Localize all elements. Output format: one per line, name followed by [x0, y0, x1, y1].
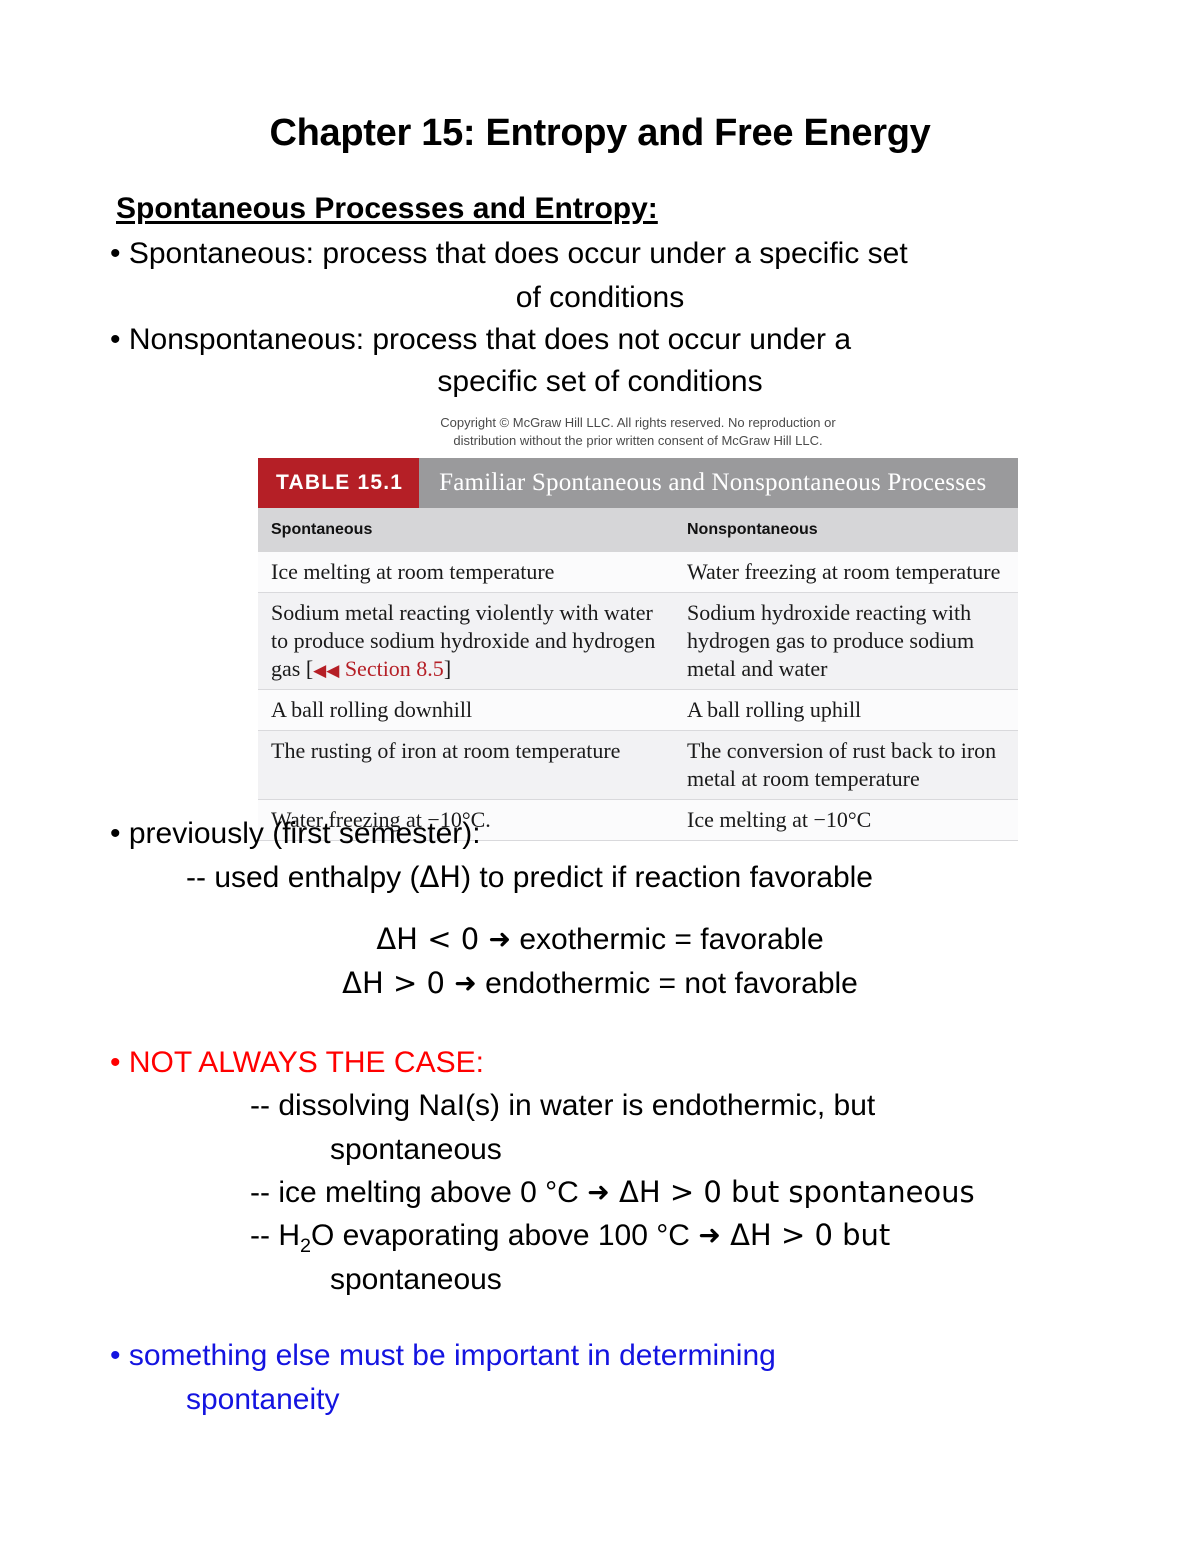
bullet-previously: • previously (first semester):	[110, 818, 481, 850]
arrow-right-icon: ➜	[488, 925, 511, 954]
sub-bullet-ice-melting: -- ice melting above 0 °C ➜ ΔH > 0 but s…	[250, 1177, 975, 1209]
bullet-dot: •	[110, 323, 129, 356]
table-caption: Familiar Spontaneous and Nonspontaneous …	[419, 458, 1018, 508]
ice-melting-text-a: -- ice melting above 0 °C	[250, 1176, 587, 1209]
spontaneous-emphasis: does	[494, 237, 559, 270]
sub-bullet-enthalpy: -- used enthalpy (ΔH) to predict if reac…	[186, 862, 873, 894]
spontaneous-line2-text: of conditions	[516, 281, 684, 314]
section-reference-link[interactable]: Section 8.5	[339, 656, 444, 681]
h2o-text-a: -- H	[250, 1219, 300, 1252]
column-header-spontaneous: Spontaneous	[258, 521, 674, 539]
conclusion-line-1: • something else must be important in de…	[110, 1340, 776, 1372]
h2o-text-c: ΔH > 0 but	[721, 1218, 890, 1252]
column-header-nonspontaneous: Nonspontaneous	[674, 521, 1018, 539]
cell-spontaneous: Ice melting at room temperature	[258, 552, 674, 592]
equation-exothermic-lhs: ΔH < 0	[376, 922, 488, 956]
cell-spontaneous: The rusting of iron at room temperature	[258, 731, 674, 799]
delta-h-symbol: ΔH	[419, 860, 461, 894]
bullet-not-always-the-case: • NOT ALWAYS THE CASE:	[110, 1047, 484, 1079]
table-number-badge: TABLE 15.1	[258, 458, 419, 508]
cell-nonspontaneous: Water freezing at room temperature	[674, 552, 1018, 592]
copyright-line-1: Copyright © McGraw Hill LLC. All rights …	[258, 414, 1018, 432]
nonspontaneous-text-a: : process that	[356, 323, 544, 356]
copyright-line-2: distribution without the prior written c…	[258, 432, 1018, 450]
table-row: A ball rolling downhill A ball rolling u…	[258, 690, 1018, 731]
cell-spontaneous: A ball rolling downhill	[258, 690, 674, 730]
nonspontaneous-line2-text: specific set of conditions	[437, 365, 762, 398]
slide-page: Chapter 15: Entropy and Free Energy Spon…	[0, 0, 1200, 1553]
ice-melting-text-b: ΔH > 0 but spontaneous	[610, 1175, 975, 1209]
term-spontaneous: Spontaneous	[129, 237, 306, 270]
enthalpy-text-a: -- used enthalpy (	[186, 861, 419, 894]
equation-endothermic: ΔH > 0 ➜ endothermic = not favorable	[0, 968, 1200, 1000]
h2o-subscript: 2	[300, 1235, 311, 1257]
rewind-icon: ◀◀	[313, 661, 339, 681]
definition-spontaneous-line2: of conditions	[0, 282, 1200, 314]
equation-exothermic-rhs: exothermic = favorable	[511, 923, 824, 956]
sub-bullet-nai-line1: -- dissolving NaI(s) in water is endothe…	[250, 1090, 875, 1122]
table-row: Ice melting at room temperature Water fr…	[258, 552, 1018, 593]
table-15-1: TABLE 15.1 Familiar Spontaneous and Nons…	[258, 458, 1018, 841]
section-heading: Spontaneous Processes and Entropy:	[116, 192, 658, 226]
equation-endothermic-rhs: endothermic = not favorable	[477, 967, 858, 1000]
definition-nonspontaneous-line2: specific set of conditions	[0, 366, 1200, 398]
table-column-headers: Spontaneous Nonspontaneous	[258, 508, 1018, 552]
enthalpy-text-b: ) to predict if reaction favorable	[461, 861, 873, 894]
definition-nonspontaneous: • Nonspontaneous: process that does not …	[110, 324, 851, 356]
page-title: Chapter 15: Entropy and Free Energy	[0, 112, 1200, 155]
cell-spontaneous: Sodium metal reacting violently with wat…	[258, 593, 674, 689]
table-header-bar: TABLE 15.1 Familiar Spontaneous and Nons…	[258, 458, 1018, 508]
cell-nonspontaneous: A ball rolling uphill	[674, 690, 1018, 730]
table-row: Sodium metal reacting violently with wat…	[258, 593, 1018, 690]
h2o-text-b: O evaporating above 100 °C	[311, 1219, 698, 1252]
nonspontaneous-text-b: occur under a	[659, 323, 851, 356]
spontaneous-text-a: : process that	[306, 237, 494, 270]
sub-bullet-water-evaporating-line2: spontaneous	[330, 1264, 502, 1296]
spontaneous-text-b: occur under a specific set	[559, 237, 908, 270]
cell-spontaneous-tail: ]	[444, 656, 451, 681]
arrow-right-icon: ➜	[587, 1178, 610, 1207]
arrow-right-icon: ➜	[454, 969, 477, 998]
equation-exothermic: ΔH < 0 ➜ exothermic = favorable	[0, 924, 1200, 956]
arrow-right-icon: ➜	[698, 1221, 721, 1250]
cell-nonspontaneous: The conversion of rust back to iron meta…	[674, 731, 1018, 799]
bullet-dot: •	[110, 237, 129, 270]
cell-nonspontaneous: Ice melting at −10°C	[674, 800, 1018, 840]
equation-endothermic-lhs: ΔH > 0	[342, 966, 454, 1000]
copyright-notice: Copyright © McGraw Hill LLC. All rights …	[258, 414, 1018, 449]
cell-nonspontaneous: Sodium hydroxide reacting with hydrogen …	[674, 593, 1018, 689]
sub-bullet-water-evaporating: -- H2O evaporating above 100 °C ➜ ΔH > 0…	[250, 1220, 890, 1257]
conclusion-line-2: spontaneity	[186, 1384, 339, 1416]
definition-spontaneous: • Spontaneous: process that does occur u…	[110, 238, 908, 270]
table-row: The rusting of iron at room temperature …	[258, 731, 1018, 800]
nonspontaneous-emphasis: does not	[544, 323, 659, 356]
sub-bullet-nai-line2: spontaneous	[330, 1134, 502, 1166]
term-nonspontaneous: Nonspontaneous	[129, 323, 356, 356]
